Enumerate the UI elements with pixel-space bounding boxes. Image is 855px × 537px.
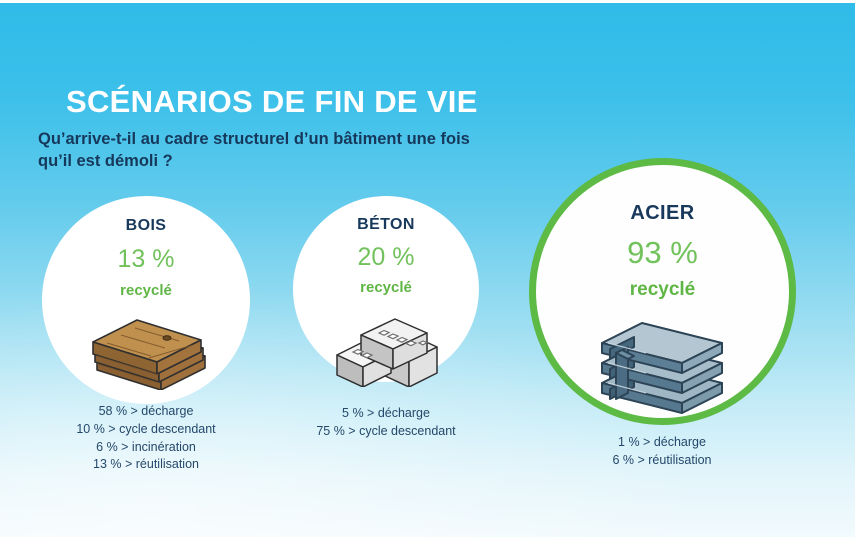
breakdown-bois: 58 % > décharge 10 % > cycle descendant … (46, 403, 246, 474)
breakdown-beton: 5 % > décharge 75 % > cycle descendant (286, 405, 486, 441)
breakdown-line: 5 % > décharge (286, 405, 486, 423)
breakdown-line: 1 % > décharge (562, 434, 762, 452)
infographic-poster: SCÉNARIOS DE FIN DE VIE Qu’arrive-t-il a… (0, 0, 855, 537)
material-percent-beton: 20 % (358, 245, 415, 270)
breakdown-line: 75 % > cycle descendant (286, 423, 486, 441)
page-title: SCÉNARIOS DE FIN DE VIE (66, 84, 478, 120)
breakdown-acier: 1 % > décharge 6 % > réutilisation (562, 434, 762, 470)
breakdown-line: 13 % > réutilisation (46, 456, 246, 474)
material-name-bois: BOIS (126, 218, 167, 234)
material-recycled-label-acier: recyclé (630, 280, 696, 299)
material-disc-bois: BOIS 13 % recyclé (42, 196, 250, 404)
material-disc-beton: BÉTON 20 % recyclé (293, 196, 479, 382)
concrete-blocks-icon (331, 305, 441, 387)
material-disc-acier: ACIER 93 % recyclé (529, 158, 796, 425)
top-edge-rule (0, 0, 855, 3)
breakdown-line: 6 % > incinération (46, 439, 246, 457)
material-percent-bois: 13 % (118, 247, 175, 272)
wood-planks-icon (81, 312, 211, 390)
material-recycled-label-beton: recyclé (360, 280, 412, 295)
material-recycled-label-bois: recyclé (120, 283, 172, 298)
breakdown-line: 10 % > cycle descendant (46, 421, 246, 439)
material-percent-acier: 93 % (627, 237, 698, 268)
breakdown-line: 58 % > décharge (46, 403, 246, 421)
breakdown-line: 6 % > réutilisation (562, 452, 762, 470)
material-name-acier: ACIER (630, 203, 694, 223)
material-card-acier[interactable]: ACIER 93 % recyclé (529, 158, 796, 425)
page-subtitle: Qu’arrive-t-il au cadre structurel d’un … (38, 128, 508, 172)
material-card-beton[interactable]: BÉTON 20 % recyclé (293, 196, 479, 382)
material-card-bois[interactable]: BOIS 13 % recyclé (42, 196, 250, 404)
material-name-beton: BÉTON (357, 217, 415, 233)
steel-beams-icon (596, 311, 730, 415)
